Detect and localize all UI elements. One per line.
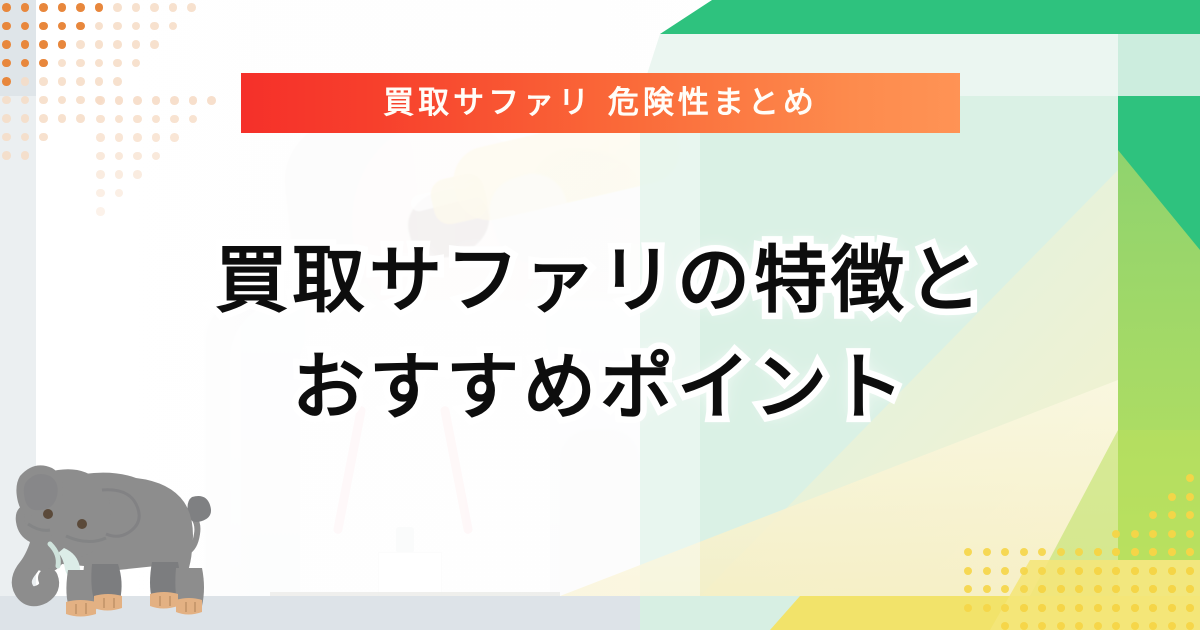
decorative-dot-faded (189, 96, 198, 105)
decorative-dot (983, 548, 991, 556)
decorative-dot (1149, 548, 1157, 556)
decorative-dot (1186, 511, 1194, 519)
decorative-dot (1149, 622, 1157, 630)
decorative-dot (58, 22, 67, 31)
decorative-dot (2, 114, 11, 123)
decorative-dot (1057, 622, 1065, 630)
decorative-dot (1131, 530, 1139, 538)
decorative-dot (983, 567, 991, 575)
decorative-dot (1112, 530, 1120, 538)
decorative-dot (132, 3, 141, 12)
decorative-dot (1020, 604, 1028, 612)
decorative-dot-faded (96, 207, 105, 216)
decorative-dot (1112, 585, 1120, 593)
decorative-dot-faded (96, 115, 105, 124)
decorative-dot (1075, 567, 1083, 575)
decorative-dot (1168, 530, 1176, 538)
decorative-dot (1186, 585, 1194, 593)
decorative-dot-faded (133, 133, 142, 142)
decorative-dot (1168, 604, 1176, 612)
decorative-dot-faded (207, 96, 216, 105)
decorative-dot (1186, 622, 1194, 630)
decorative-dot (76, 96, 85, 105)
decorative-dot-faded (115, 133, 124, 142)
decorative-dot (2, 22, 11, 31)
decorative-dot (76, 59, 85, 68)
decorative-dot (1112, 567, 1120, 575)
decorative-dot (1149, 604, 1157, 612)
decorative-dot (150, 22, 159, 31)
decorative-dot (964, 548, 972, 556)
decorative-dot-faded (133, 152, 142, 161)
decorative-dot-faded (115, 115, 124, 124)
decorative-dot (21, 3, 30, 12)
decorative-dot (1094, 622, 1102, 630)
decorative-dot (1186, 493, 1194, 501)
decorative-dot (132, 40, 141, 49)
decorative-dot (1112, 548, 1120, 556)
decorative-dot (21, 96, 30, 105)
decorative-dot (76, 40, 85, 49)
decorative-dot (39, 22, 48, 31)
decorative-dot (39, 59, 48, 68)
decorative-dot (2, 96, 11, 105)
decorative-dot-faded (133, 96, 142, 105)
decorative-dot (150, 3, 159, 12)
decorative-dot (1020, 548, 1028, 556)
decorative-dot (132, 59, 141, 68)
decorative-dot (1149, 530, 1157, 538)
decorative-dot (1131, 604, 1139, 612)
page-title: 買取サファリの特徴と おすすめポイント (0, 228, 1200, 441)
decorative-dot (1168, 622, 1176, 630)
decorative-dot (21, 151, 30, 160)
decorative-dot (1186, 567, 1194, 575)
decorative-dot-faded (189, 115, 198, 124)
decorative-dot (1094, 548, 1102, 556)
decorative-dot-faded (96, 152, 105, 161)
decorative-dot (58, 40, 67, 49)
decorative-dot (39, 77, 48, 86)
decorative-dot (21, 114, 30, 123)
decorative-dot (1075, 548, 1083, 556)
decorative-dot (1131, 622, 1139, 630)
decorative-dot (1094, 567, 1102, 575)
decorative-dot-faded (115, 96, 124, 105)
decorative-dot (1168, 511, 1176, 519)
decorative-dot (1094, 604, 1102, 612)
elephant-icon (6, 452, 221, 627)
decorative-dot (39, 40, 48, 49)
decorative-dot (1094, 585, 1102, 593)
decorative-dot (1186, 530, 1194, 538)
decorative-dot-faded (133, 170, 142, 179)
decorative-dot (1131, 567, 1139, 575)
decorative-dot (58, 3, 67, 12)
decorative-dot (964, 585, 972, 593)
decorative-dot (1001, 548, 1009, 556)
category-banner: 買取サファリ 危険性まとめ (241, 73, 960, 133)
decorative-dot-faded (115, 189, 124, 198)
decorative-dot (113, 3, 122, 12)
decorative-dot (983, 585, 991, 593)
decorative-dot (95, 77, 104, 86)
decorative-dot (39, 3, 48, 12)
decorative-dot (21, 59, 30, 68)
decorative-dot (1020, 585, 1028, 593)
decorative-dot-faded (96, 133, 105, 142)
decorative-dot (58, 77, 67, 86)
decorative-dot (2, 133, 11, 142)
decorative-dot (983, 604, 991, 612)
decorative-dot (1057, 604, 1065, 612)
decorative-dot (58, 96, 67, 105)
decorative-dot (95, 3, 104, 12)
decorative-dot (1038, 567, 1046, 575)
decorative-dot (1168, 548, 1176, 556)
title-line-1: 買取サファリの特徴と (0, 228, 1200, 335)
decorative-dot (58, 114, 67, 123)
decorative-dot (1038, 604, 1046, 612)
decorative-dot (21, 77, 30, 86)
decorative-dot-faded (133, 115, 142, 124)
decorative-dot (1001, 567, 1009, 575)
decorative-dot (1149, 567, 1157, 575)
decorative-dot (1020, 567, 1028, 575)
decorative-dot (1186, 474, 1194, 482)
decorative-dot-faded (115, 170, 124, 179)
decorative-dot (1149, 511, 1157, 519)
decorative-dot (132, 22, 141, 31)
decorative-dot (964, 604, 972, 612)
decorative-dot (1020, 622, 1028, 630)
decorative-dot (1057, 567, 1065, 575)
decorative-dot (169, 3, 178, 12)
decorative-dot (76, 3, 85, 12)
decorative-dot (95, 59, 104, 68)
decorative-dot (76, 114, 85, 123)
decorative-dot (1112, 604, 1120, 612)
decorative-dot (39, 114, 48, 123)
decorative-dot (2, 40, 11, 49)
decorative-dot (1075, 585, 1083, 593)
decorative-dot (1168, 567, 1176, 575)
decorative-dot (113, 59, 122, 68)
decorative-dot (1168, 493, 1176, 501)
decorative-dot (1075, 622, 1083, 630)
decorative-dot (113, 77, 122, 86)
decorative-dot (1186, 548, 1194, 556)
decorative-dot (1038, 622, 1046, 630)
decorative-dot (2, 59, 11, 68)
decorative-dot (76, 77, 85, 86)
decorative-dot-faded (170, 96, 179, 105)
decorative-dot (58, 59, 67, 68)
decorative-dot (95, 22, 104, 31)
decorative-dot (39, 133, 48, 142)
decorative-dot (21, 22, 30, 31)
banner-label: 買取サファリ 危険性まとめ (383, 88, 818, 119)
decorative-dot (1057, 548, 1065, 556)
decorative-dot (964, 567, 972, 575)
decorative-dot (1038, 548, 1046, 556)
decorative-dot (2, 151, 11, 160)
decorative-dot (169, 22, 178, 31)
decorative-dot (150, 40, 159, 49)
decorative-dot (1075, 604, 1083, 612)
decorative-dot-faded (152, 115, 161, 124)
decorative-dot-faded (96, 96, 105, 105)
decorative-dot (21, 133, 30, 142)
decorative-dot (1057, 585, 1065, 593)
decorative-dot-faded (170, 115, 179, 124)
decorative-dot (1001, 622, 1009, 630)
decorative-dot (21, 40, 30, 49)
decorative-dot (1131, 585, 1139, 593)
decorative-dot-faded (96, 189, 105, 198)
decorative-dot (187, 3, 196, 12)
dot-pattern-top-left (0, 0, 200, 170)
title-line-2: おすすめポイント (0, 335, 1200, 442)
decorative-dot (1186, 604, 1194, 612)
decorative-dot (113, 22, 122, 31)
dot-pattern-bottom-right (960, 470, 1200, 630)
decorative-dot (1001, 585, 1009, 593)
decorative-dot-faded (170, 133, 179, 142)
decorative-dot-faded (152, 133, 161, 142)
decorative-dot (2, 3, 11, 12)
decorative-dot (95, 40, 104, 49)
decorative-dot (1149, 585, 1157, 593)
decorative-dot (1168, 585, 1176, 593)
decorative-dot-faded (96, 170, 105, 179)
decorative-dot (1001, 604, 1009, 612)
decorative-dot (1038, 585, 1046, 593)
decorative-dot (39, 96, 48, 105)
decorative-dot-faded (115, 152, 124, 161)
decorative-dot (2, 77, 11, 86)
decorative-dot (1112, 622, 1120, 630)
decorative-dot-faded (152, 96, 161, 105)
ogp-card: 買取サファリ 危険性まとめ 買取サファリの特徴と おすすめポイント (0, 0, 1200, 630)
decorative-dot (1131, 548, 1139, 556)
decorative-dot (113, 40, 122, 49)
decorative-dot (76, 22, 85, 31)
decorative-dot-faded (152, 152, 161, 161)
